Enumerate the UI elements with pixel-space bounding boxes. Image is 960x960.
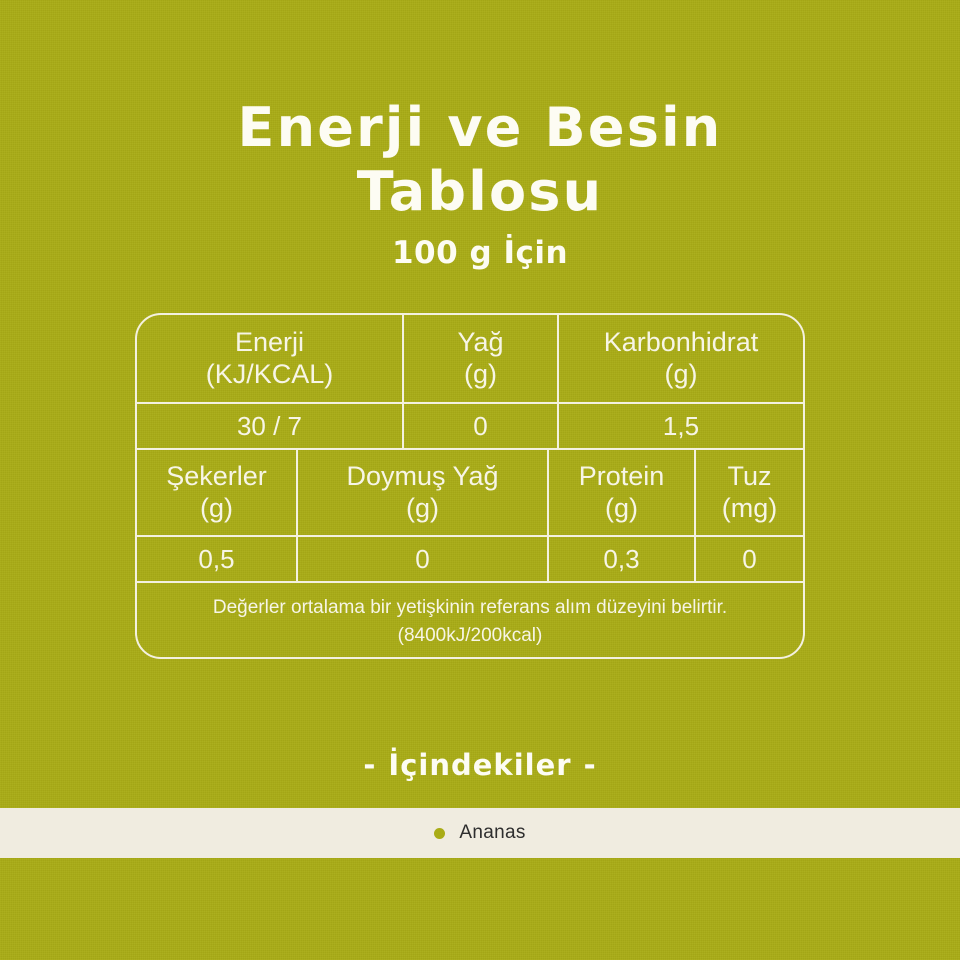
table-header-cell-doymus-yag: Doymuş Yağ (g): [296, 450, 547, 535]
table-row: 0,5 0 0,3 0: [137, 535, 803, 581]
nutrition-label-page: Enerji ve Besin Tablosu 100 g İçin Enerj…: [0, 0, 960, 960]
nutrition-table: Enerji (KJ/KCAL) Yağ (g) Karbonhidrat (g…: [135, 313, 805, 659]
header-unit: (mg): [722, 493, 778, 524]
table-header-cell-yag: Yağ (g): [402, 315, 557, 402]
table-header-cell-protein: Protein (g): [547, 450, 694, 535]
dash-right: -: [572, 748, 609, 782]
ingredients-band: Ananas: [0, 808, 960, 858]
ingredients-heading-label: İçindekiler: [388, 748, 571, 782]
header-unit: (g): [166, 493, 267, 524]
header-label: Şekerler: [166, 461, 267, 492]
table-value-cell-sekerler: 0,5: [137, 537, 296, 581]
table-row: Enerji (KJ/KCAL) Yağ (g) Karbonhidrat (g…: [137, 315, 803, 402]
header-label: Protein: [579, 461, 665, 492]
table-value-cell-doymus-yag: 0: [296, 537, 547, 581]
reference-intake-note: Değerler ortalama bir yetişkinin referan…: [137, 581, 803, 659]
table-value-cell-enerji: 30 / 7: [137, 404, 402, 448]
header-label: Doymuş Yağ: [346, 461, 498, 492]
header-unit: (g): [579, 493, 665, 524]
table-row: Şekerler (g) Doymuş Yağ (g) Protein (g) …: [137, 448, 803, 535]
header-label: Enerji: [206, 327, 334, 358]
list-item: Ananas: [434, 822, 525, 844]
page-title: Enerji ve Besin Tablosu: [0, 96, 960, 223]
note-line-2: (8400kJ/200kcal): [398, 622, 543, 651]
header-label: Karbonhidrat: [604, 327, 759, 358]
table-value-cell-karbonhidrat: 1,5: [557, 404, 803, 448]
table-header-cell-tuz: Tuz (mg): [694, 450, 803, 535]
bullet-dot-icon: [434, 828, 445, 839]
serving-size-subtitle: 100 g İçin: [0, 235, 960, 271]
dash-left: -: [351, 748, 388, 782]
header-unit: (g): [346, 493, 498, 524]
table-value-cell-tuz: 0: [694, 537, 803, 581]
header-label: Tuz: [722, 461, 778, 492]
table-row: 30 / 7 0 1,5: [137, 402, 803, 448]
ingredients-heading: -İçindekiler-: [0, 748, 960, 782]
header-unit: (KJ/KCAL): [206, 359, 334, 390]
table-header-cell-karbonhidrat: Karbonhidrat (g): [557, 315, 803, 402]
table-value-cell-yag: 0: [402, 404, 557, 448]
header-unit: (g): [457, 359, 503, 390]
ingredient-name: Ananas: [459, 822, 525, 844]
table-header-cell-enerji: Enerji (KJ/KCAL): [137, 315, 402, 402]
table-value-cell-protein: 0,3: [547, 537, 694, 581]
table-header-cell-sekerler: Şekerler (g): [137, 450, 296, 535]
header-unit: (g): [604, 359, 759, 390]
note-line-1: Değerler ortalama bir yetişkinin referan…: [213, 594, 727, 623]
header-block: Enerji ve Besin Tablosu 100 g İçin: [0, 96, 960, 271]
header-label: Yağ: [457, 327, 503, 358]
